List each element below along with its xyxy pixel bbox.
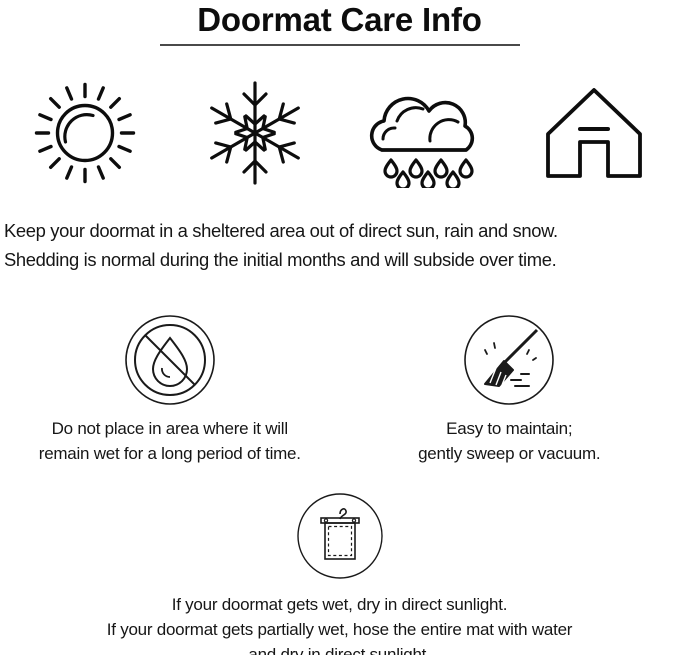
tip-badge <box>124 312 216 408</box>
hang-to-dry-icon <box>296 492 384 580</box>
page-title-block: Doormat Care Info <box>0 0 679 46</box>
sun-icon <box>31 79 139 187</box>
page-title: Doormat Care Info <box>0 0 679 38</box>
snowflake-icon <box>203 77 307 189</box>
rain-cloud-icon <box>366 78 482 188</box>
house-icon <box>538 80 650 186</box>
tip-badge <box>463 312 555 408</box>
tip-badge <box>296 488 384 584</box>
tip-caption-line: remain wet for a long period of time. <box>39 441 301 466</box>
tips-row: Do not place in area where it will remai… <box>0 312 679 466</box>
tip-caption: If your doormat gets wet, dry in direct … <box>107 592 572 655</box>
weather-cell-snow <box>170 70 340 195</box>
tip-caption-line: Do not place in area where it will <box>39 416 301 441</box>
weather-cell-rain <box>340 70 510 195</box>
title-underline-rule <box>160 44 520 46</box>
tip-caption-line: gently sweep or vacuum. <box>418 441 600 466</box>
doormat-care-info-card: Doormat Care Info <box>0 0 679 655</box>
tip-easy-to-maintain: Easy to maintain; gently sweep or vacuum… <box>340 312 679 466</box>
tip-caption-line: If your doormat gets partially wet, hose… <box>107 617 572 642</box>
broom-icon <box>463 314 555 406</box>
intro-paragraph: Keep your doormat in a sheltered area ou… <box>0 216 679 274</box>
weather-cell-sun <box>0 70 170 195</box>
tip-caption-line: Easy to maintain; <box>418 416 600 441</box>
tip-hang-to-dry: If your doormat gets wet, dry in direct … <box>0 488 679 655</box>
weather-icon-row <box>0 70 679 195</box>
intro-line: Shedding is normal during the initial mo… <box>4 245 675 274</box>
tip-caption-line: If your doormat gets wet, dry in direct … <box>107 592 572 617</box>
tip-caption: Do not place in area where it will remai… <box>39 416 301 466</box>
no-water-icon <box>124 314 216 406</box>
intro-line: Keep your doormat in a sheltered area ou… <box>4 216 675 245</box>
tip-caption-line: and dry in direct sunlight. <box>107 642 572 655</box>
tip-no-standing-water: Do not place in area where it will remai… <box>0 312 340 466</box>
weather-cell-house <box>509 70 679 195</box>
tip-caption: Easy to maintain; gently sweep or vacuum… <box>418 416 600 466</box>
